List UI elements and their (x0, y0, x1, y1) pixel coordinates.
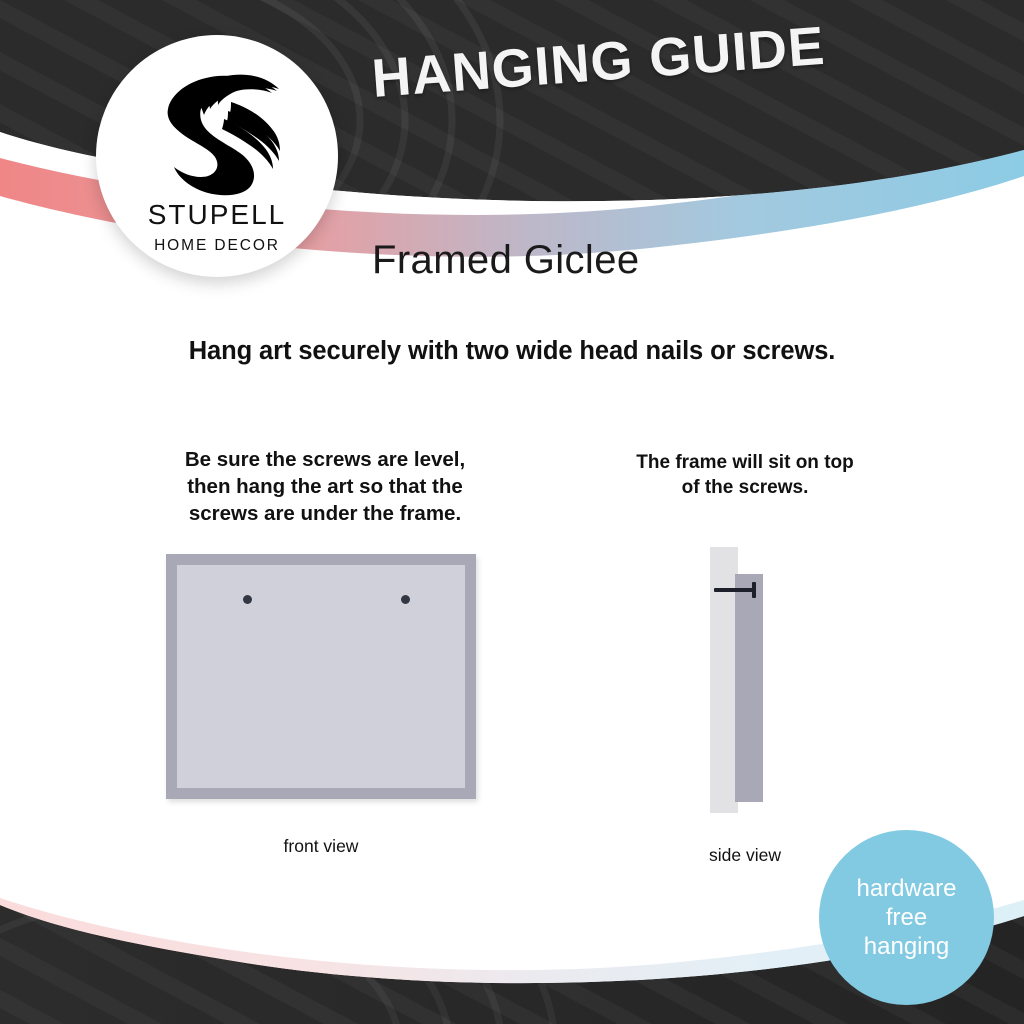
badge-line-3: hanging (864, 932, 949, 961)
hardware-free-hanging-badge: hardware free hanging (819, 830, 994, 1005)
screw-dot-right-icon (401, 595, 410, 604)
page-title: HANGING GUIDE (370, 10, 893, 110)
front-view-caption: Be sure the screws are level, then hang … (160, 446, 490, 527)
nail-shaft-icon (714, 588, 756, 592)
side-view-caption: The frame will sit on top of the screws. (595, 450, 895, 500)
brand-logo-badge: STUPELL HOME DECOR (96, 35, 338, 277)
main-instruction-text: Hang art securely with two wide head nai… (0, 337, 1024, 366)
side-view-wall-strip (710, 547, 738, 813)
brand-name: STUPELL (148, 201, 287, 229)
side-view-frame-diagram (690, 540, 800, 820)
product-type-label: Framed Giclee (372, 238, 640, 283)
badge-line-1: hardware (856, 874, 956, 903)
hanging-guide-infographic: STUPELL HOME DECOR HANGING GUIDE Framed … (0, 0, 1024, 1024)
brand-subtitle: HOME DECOR (154, 238, 280, 254)
side-view-label: side view (650, 845, 840, 866)
front-view-label: front view (166, 836, 476, 857)
nail-head-icon (752, 582, 756, 598)
front-view-art-panel (177, 565, 465, 788)
side-view-frame-strip (735, 574, 763, 802)
badge-line-2: free (886, 903, 927, 932)
screw-dot-left-icon (243, 595, 252, 604)
front-view-frame-diagram (166, 554, 476, 799)
stupell-swirl-logo-icon (154, 57, 280, 197)
